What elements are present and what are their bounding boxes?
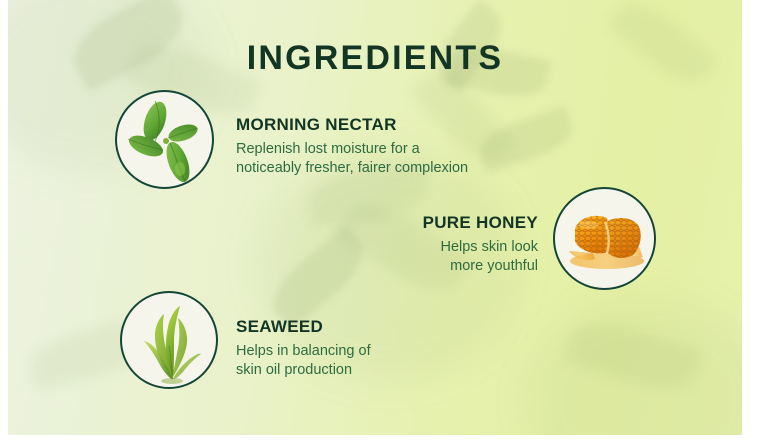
ingredient-text-pure-honey: PURE HONEY Helps skin look more youthful: [338, 214, 538, 277]
ingredients-banner: INGREDIENTS: [8, 0, 742, 435]
seaweed-icon: [122, 293, 218, 389]
ingredient-image-pure-honey: [553, 187, 656, 290]
ingredient-image-morning-nectar: [115, 90, 214, 189]
ingredient-description: Replenish lost moisture for a noticeably…: [236, 140, 526, 179]
ingredient-image-seaweed: [120, 291, 218, 389]
ingredient-name: SEAWEED: [236, 318, 496, 337]
green-leaves-icon: [117, 92, 214, 189]
page-title: INGREDIENTS: [8, 41, 742, 75]
ingredient-name: MORNING NECTAR: [236, 116, 526, 135]
ingredient-name: PURE HONEY: [338, 214, 538, 233]
ingredient-description: Helps in balancing of skin oil productio…: [236, 342, 496, 381]
honeycomb-icon: [555, 189, 656, 290]
ingredient-text-seaweed: SEAWEED Helps in balancing of skin oil p…: [236, 318, 496, 381]
ingredient-text-morning-nectar: MORNING NECTAR Replenish lost moisture f…: [236, 116, 526, 179]
ingredient-description: Helps skin look more youthful: [338, 238, 538, 277]
